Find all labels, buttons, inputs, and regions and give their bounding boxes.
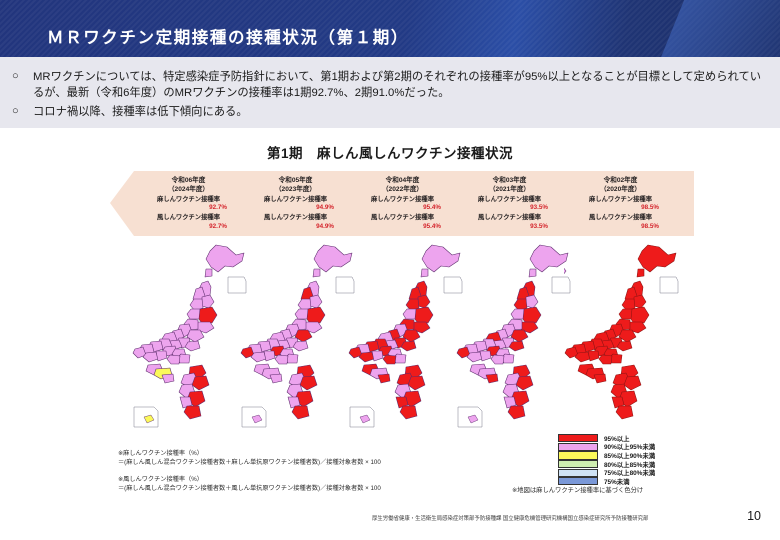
measles-label: 麻しんワクチン接種率: [243, 196, 348, 204]
footnote-measles-formula: ＝(麻しん風しん混合ワクチン接種者数＋麻しん単抗原ワクチン接種者数)／接種対象者…: [118, 459, 381, 466]
rubella-label: 風しんワクチン接種率: [136, 214, 241, 222]
legend-row: 80%以上85%未満: [558, 460, 733, 469]
year-box: 令和05年度 （2023年度） 麻しんワクチン接種率 94.9% 風しんワクチン…: [243, 177, 348, 231]
bullet-marker: ○: [12, 69, 19, 85]
legend-swatch-85-90: [558, 451, 598, 459]
footnote-rubella-formula: ＝(麻しん風しん混合ワクチン接種者数＋風しん単抗原ワクチン接種者数)／接種対象者…: [118, 485, 381, 492]
rubella-label: 風しんワクチン接種率: [568, 214, 673, 222]
map-svg: [132, 239, 252, 444]
legend-swatch-90-95: [558, 443, 598, 451]
measles-label: 麻しんワクチン接種率: [136, 196, 241, 204]
japan-map-2020: [564, 239, 684, 444]
rubella-rate: 94.9%: [243, 223, 348, 231]
footnote-rubella: ※風しんワクチン接種率（%） ＝(麻しん風しん混合ワクチン接種者数＋風しん単抗原…: [118, 475, 381, 494]
year-box: 令和04年度 （2022年度） 麻しんワクチン接種率 95.4% 風しんワクチン…: [350, 177, 455, 231]
japan-map-2022: [348, 239, 468, 444]
year-west: （2022年度）: [350, 186, 455, 195]
japan-map-2024: [132, 239, 252, 444]
measles-rate: 93.5%: [457, 204, 562, 212]
legend-row: 75%以上80%未満: [558, 468, 733, 477]
map-svg: [348, 239, 468, 444]
japan-map-series: [0, 239, 780, 444]
rubella-label: 風しんワクチン接種率: [243, 214, 348, 222]
bullet-item: ○ MRワクチンについては、特定感染症予防指針において、第1期および第2期のそれ…: [12, 69, 770, 102]
year-box: 令和02年度 （2020年度） 麻しんワクチン接種率 98.5% 風しんワクチン…: [568, 177, 673, 231]
japan-map-2023: [240, 239, 360, 444]
source-citation: 厚生労働省健康・生活衛生局感染症対策部予防接種課 国立健康危機管理研究機構国立感…: [372, 514, 648, 522]
legend-row: 75%未満: [558, 477, 733, 486]
map-svg: [240, 239, 360, 444]
legend-caption: ※地図は麻しんワクチン接種率に基づく色分け: [512, 486, 643, 495]
rubella-rate: 92.7%: [136, 223, 241, 231]
chart-title: 第1期 麻しん風しんワクチン接種状況: [0, 142, 780, 162]
bullet-text: コロナ禍以降、接種率は低下傾向にある。: [33, 104, 770, 120]
year-west: （2021年度）: [457, 186, 562, 195]
year-era: 令和03年度: [457, 177, 562, 186]
footnote-measles: ※麻しんワクチン接種率（%） ＝(麻しん風しん混合ワクチン接種者数＋麻しん単抗原…: [118, 449, 381, 468]
measles-label: 麻しんワクチン接種率: [457, 196, 562, 204]
measles-label: 麻しんワクチン接種率: [568, 196, 673, 204]
map-svg: [564, 239, 684, 444]
legend-row: 95%以上: [558, 434, 733, 443]
year-arrow-banner: 令和06年度 （2024年度） 麻しんワクチン接種率 92.7% 風しんワクチン…: [110, 171, 694, 236]
year-era: 令和05年度: [243, 177, 348, 186]
rubella-label: 風しんワクチン接種率: [350, 214, 455, 222]
legend-swatch-under-75: [558, 477, 598, 485]
legend-row: 85%以上90%未満: [558, 451, 733, 460]
year-box: 令和03年度 （2021年度） 麻しんワクチン接種率 93.5% 風しんワクチン…: [457, 177, 562, 231]
legend-swatch-95-plus: [558, 434, 598, 442]
rubella-rate: 93.5%: [457, 223, 562, 231]
bullet-marker: ○: [12, 104, 19, 120]
footnote-rubella-title: ※風しんワクチン接種率（%）: [118, 476, 203, 483]
summary-bullets: ○ MRワクチンについては、特定感染症予防指針において、第1期および第2期のそれ…: [0, 60, 780, 128]
map-svg: [456, 239, 576, 444]
legend-row: 90%以上95%未満: [558, 443, 733, 452]
legend-label: 75%未満: [604, 477, 630, 486]
legend-swatch-80-85: [558, 460, 598, 468]
year-west: （2020年度）: [568, 186, 673, 195]
chart-region: 第1期 麻しん風しんワクチン接種状況 令和06年度 （2024年度） 麻しんワク…: [0, 131, 780, 540]
map-legend: 95%以上 90%以上95%未満 85%以上90%未満 80%以上85%未満 7…: [558, 434, 733, 486]
measles-rate: 94.9%: [243, 204, 348, 212]
year-era: 令和04年度: [350, 177, 455, 186]
year-west: （2024年度）: [136, 186, 241, 195]
bullet-item: ○ コロナ禍以降、接種率は低下傾向にある。: [12, 104, 770, 120]
page-title: ＭＲワクチン定期接種の接種状況（第１期）: [47, 24, 409, 48]
year-era: 令和02年度: [568, 177, 673, 186]
slide-title-bar: ＭＲワクチン定期接種の接種状況（第１期）: [0, 0, 780, 57]
measles-label: 麻しんワクチン接種率: [350, 196, 455, 204]
measles-rate: 98.5%: [568, 204, 673, 212]
japan-map-2021: [456, 239, 576, 444]
page-number: 10: [747, 509, 761, 523]
legend-swatch-75-80: [558, 469, 598, 477]
measles-rate: 95.4%: [350, 204, 455, 212]
rubella-rate: 98.5%: [568, 223, 673, 231]
footnote-measles-title: ※麻しんワクチン接種率（%）: [118, 450, 203, 457]
bullet-text: MRワクチンについては、特定感染症予防指針において、第1期および第2期のそれぞれ…: [33, 69, 770, 102]
rubella-label: 風しんワクチン接種率: [457, 214, 562, 222]
year-box: 令和06年度 （2024年度） 麻しんワクチン接種率 92.7% 風しんワクチン…: [136, 177, 241, 231]
rubella-rate: 95.4%: [350, 223, 455, 231]
year-era: 令和06年度: [136, 177, 241, 186]
measles-rate: 92.7%: [136, 204, 241, 212]
year-west: （2023年度）: [243, 186, 348, 195]
